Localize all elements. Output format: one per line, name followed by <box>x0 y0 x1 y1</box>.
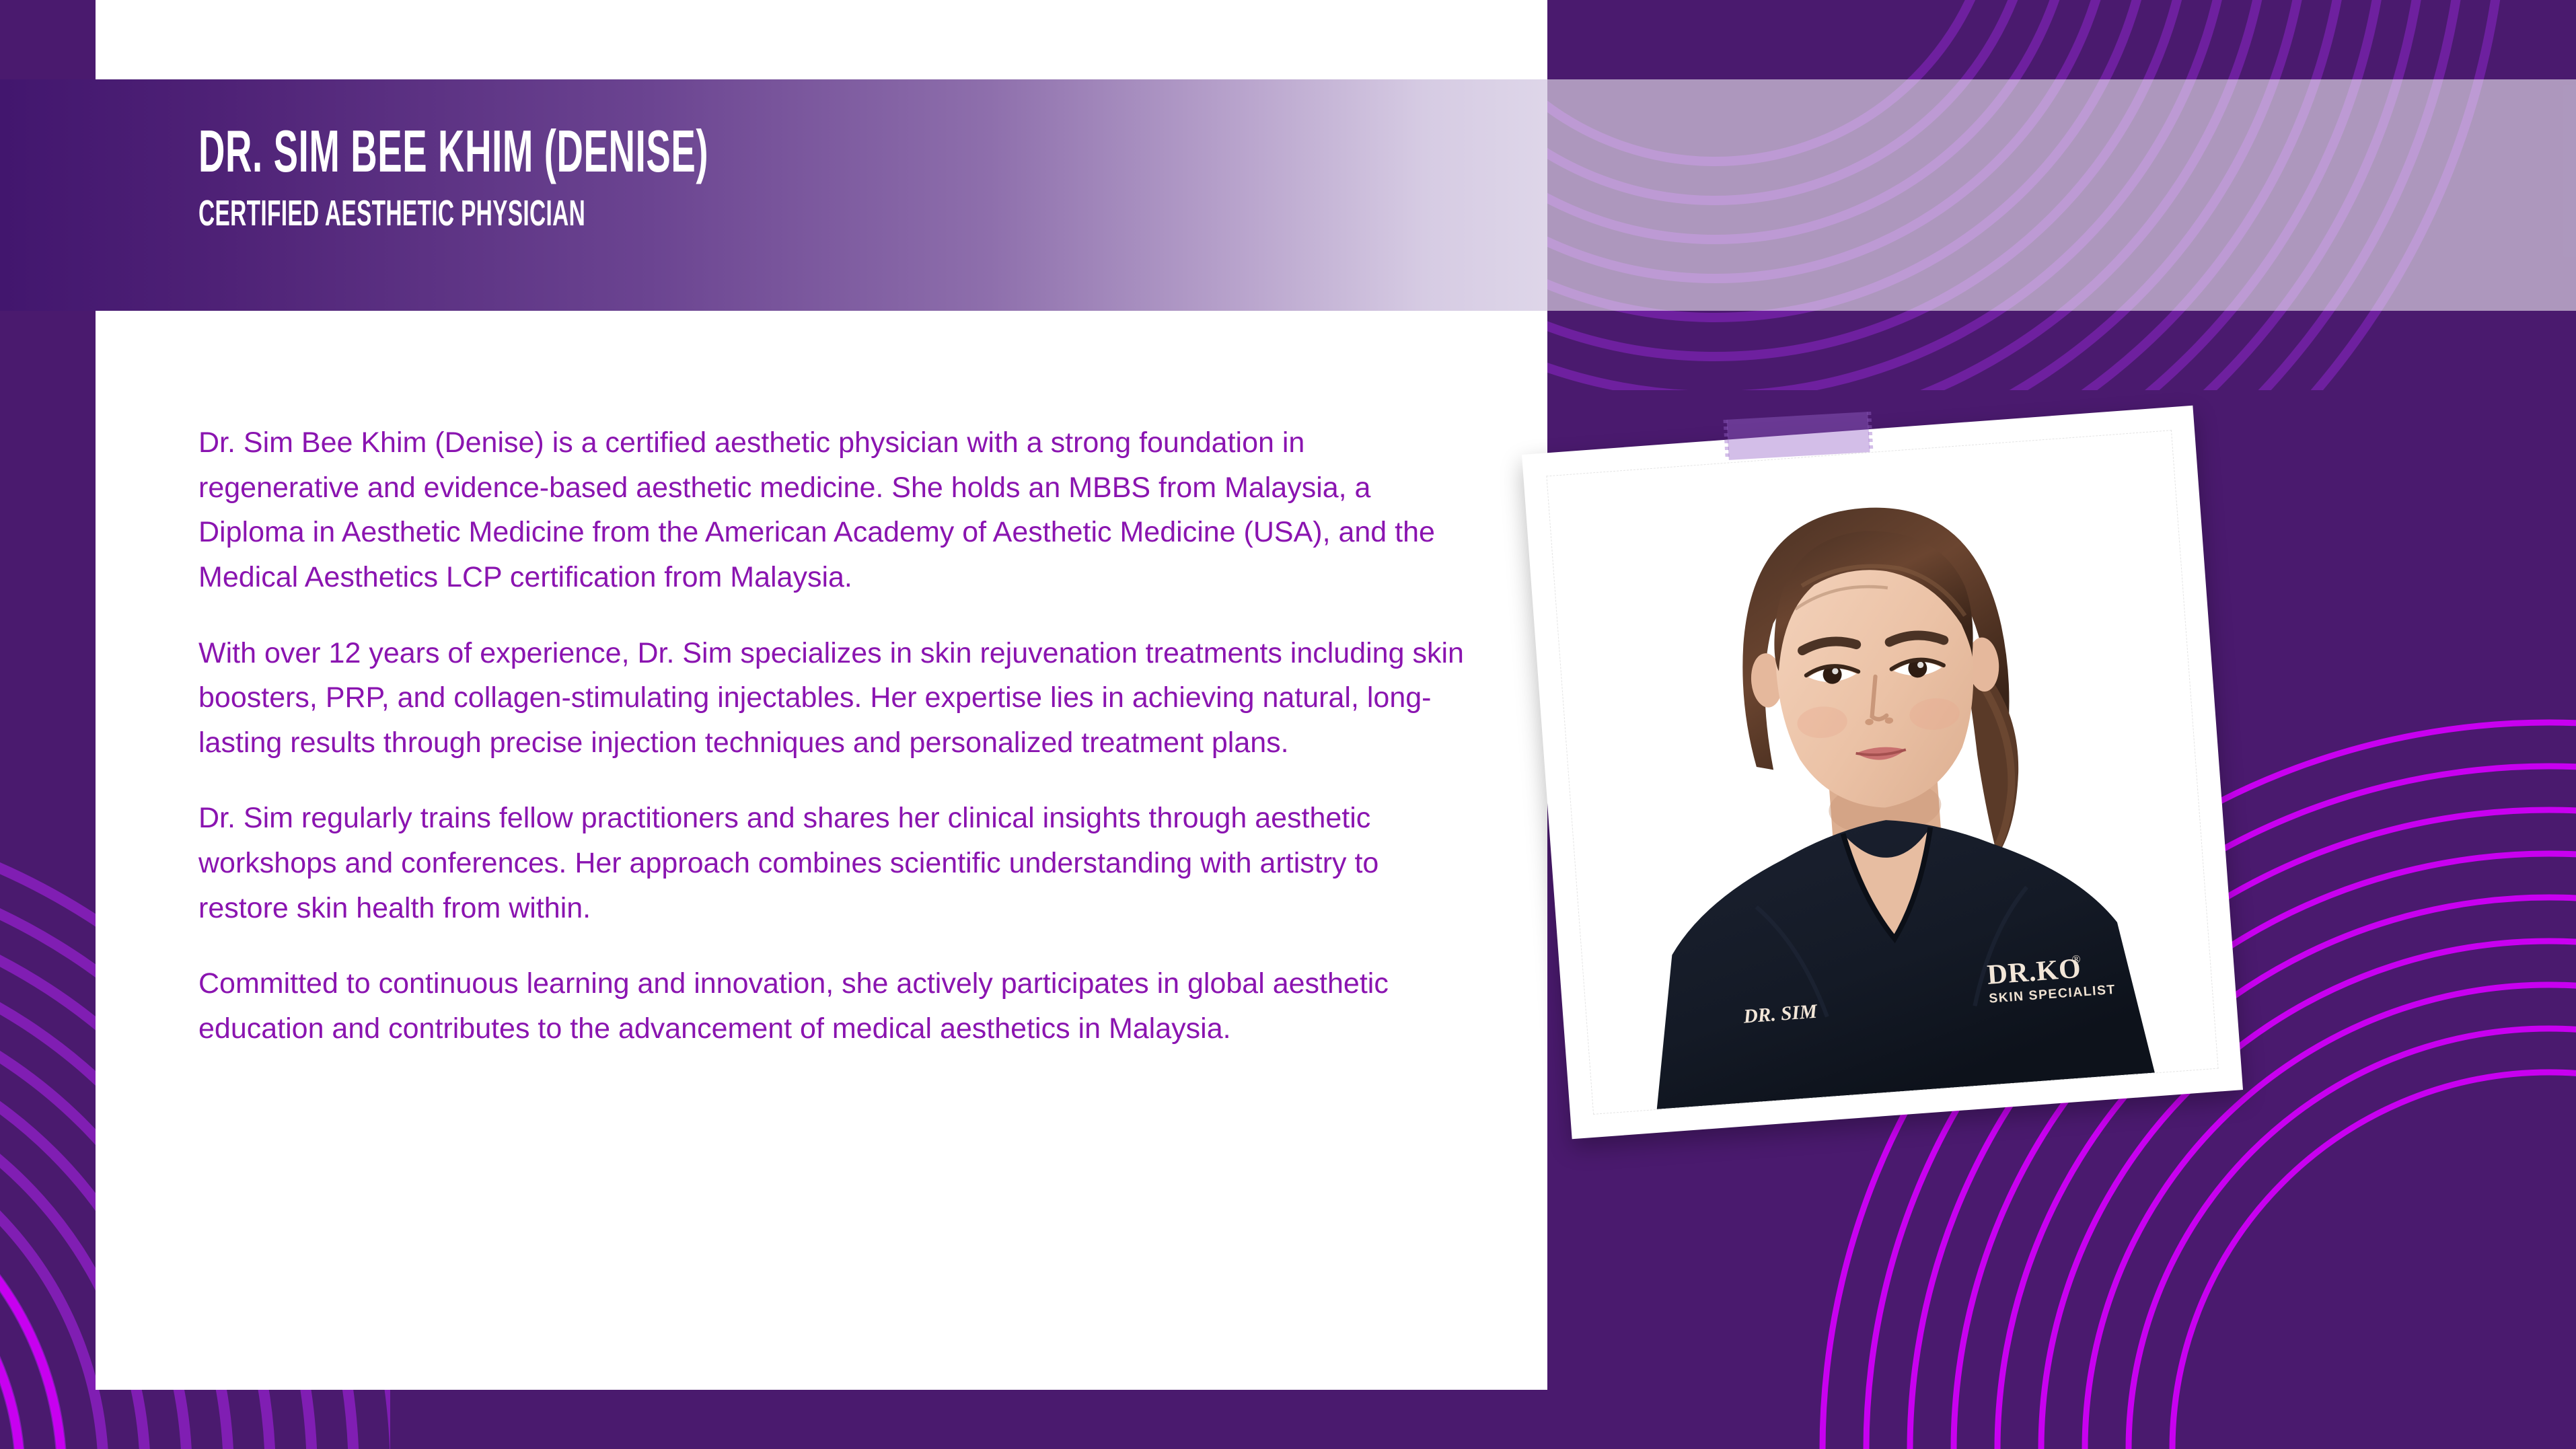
portrait-illustration: DR. SIM DR.KO ® SKIN SPECIALIST <box>1547 431 2217 1114</box>
page-subtitle: CERTIFIED AESTHETIC PHYSICIAN <box>198 195 708 231</box>
photo-frame: DR. SIM DR.KO ® SKIN SPECIALIST <box>1522 406 2243 1139</box>
scrub-badge-registered-mark: ® <box>2071 953 2081 966</box>
bio-paragraph: Dr. Sim Bee Khim (Denise) is a certified… <box>198 420 1470 600</box>
header-band-overlay <box>1547 79 2576 311</box>
biography: Dr. Sim Bee Khim (Denise) is a certified… <box>198 420 1470 1051</box>
page-title: DR. SIM BEE KHIM (DENISE) <box>198 122 708 180</box>
photo-frame-inner: DR. SIM DR.KO ® SKIN SPECIALIST <box>1546 430 2218 1115</box>
bio-paragraph: With over 12 years of experience, Dr. Si… <box>198 631 1470 766</box>
portrait-block: DR. SIM DR.KO ® SKIN SPECIALIST <box>1506 416 2232 1176</box>
tape-strip <box>1726 412 1870 460</box>
bio-paragraph: Dr. Sim regularly trains fellow practiti… <box>198 796 1470 930</box>
title-block: DR. SIM BEE KHIM (DENISE) CERTIFIED AEST… <box>198 122 1021 231</box>
bio-paragraph: Committed to continuous learning and inn… <box>198 961 1470 1051</box>
portrait-photo: DR. SIM DR.KO ® SKIN SPECIALIST <box>1547 431 2217 1114</box>
